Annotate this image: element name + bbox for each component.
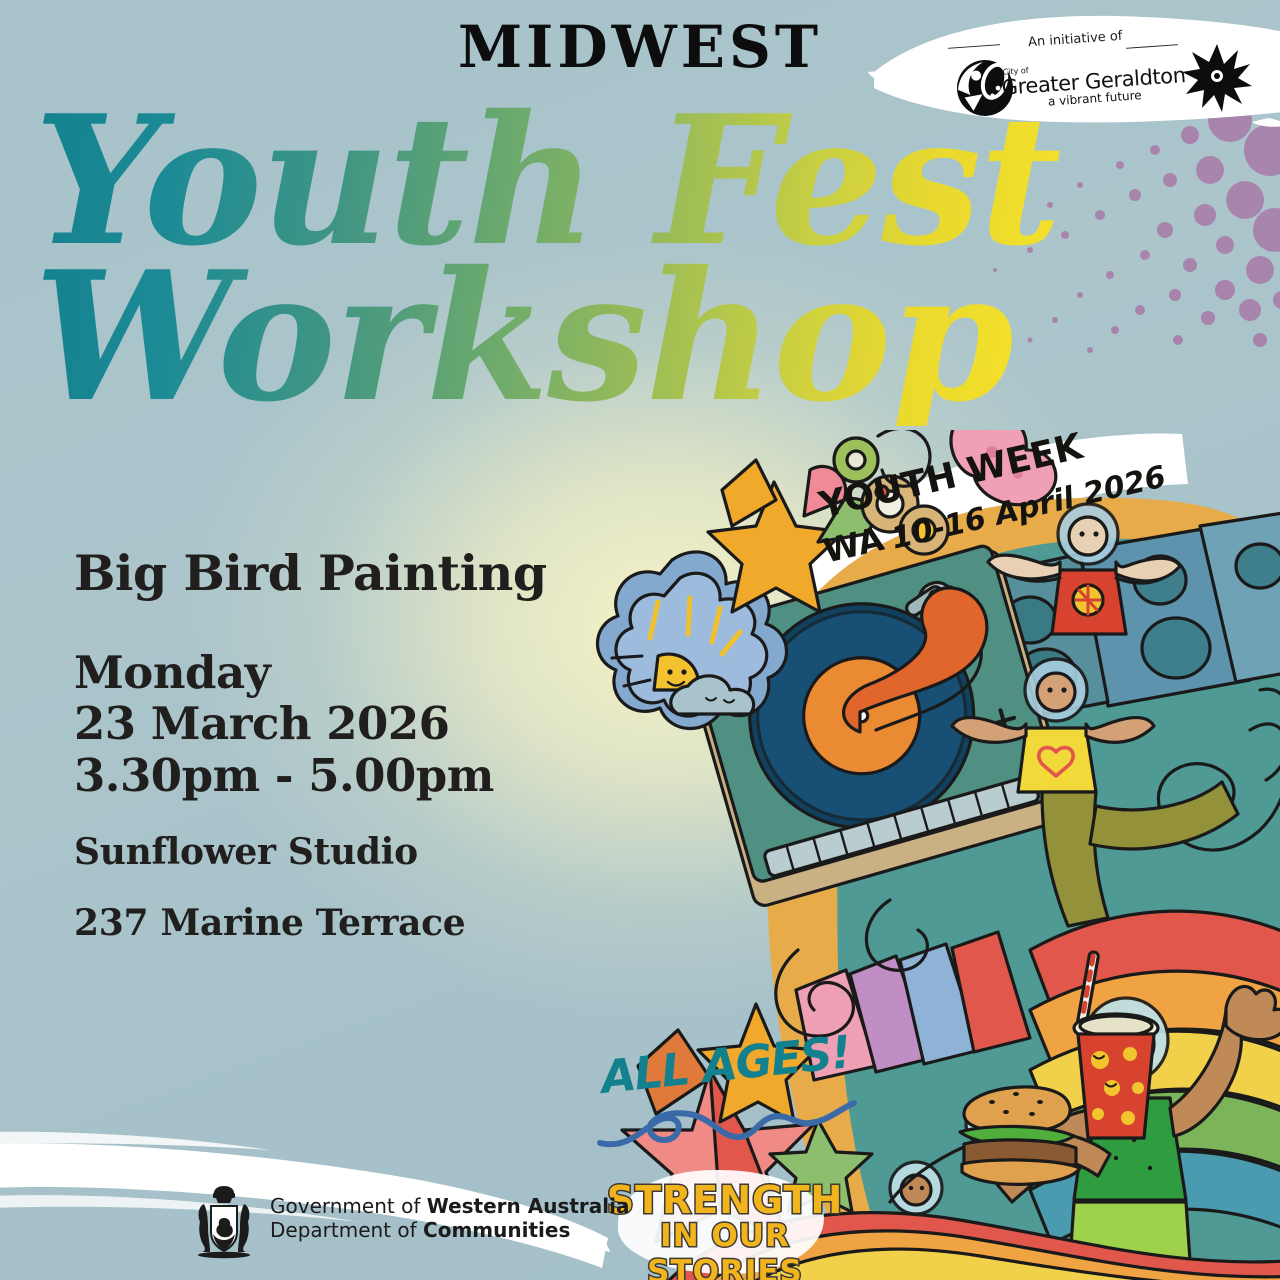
gov-line2-plain: Department of	[270, 1218, 423, 1242]
event-name: Big Bird Painting	[74, 548, 634, 599]
squiggle-underline-icon	[596, 1097, 896, 1155]
event-details: Big Bird Painting Monday 23 March 2026 3…	[74, 548, 634, 945]
wa-state-crest-icon	[186, 1182, 262, 1260]
youth-week-state: WA	[820, 519, 888, 571]
event-address: 237 Marine Terrace	[74, 902, 634, 945]
strength-in-our-stories-logo: STRENGTH IN OUR STORIES	[600, 1176, 850, 1268]
government-line-2: Department of Communities	[270, 1218, 629, 1242]
gov-line2-bold: Communities	[423, 1218, 570, 1242]
city-brand-text: City of Greater Geraldton a vibrant futu…	[1000, 56, 1187, 112]
initiative-logo-block: An initiative of City of Greater Geraldt…	[912, 18, 1272, 122]
government-text: Government of Western Australia Departme…	[270, 1194, 629, 1243]
event-day: Monday	[74, 647, 634, 698]
poster-canvas: MIDWEST Youth Fest Workshop Big Bird Pai…	[0, 0, 1280, 1280]
all-ages-badge: ALL AGES!	[596, 1045, 896, 1155]
strength-line-1: STRENGTH	[600, 1178, 850, 1222]
event-venue: Sunflower Studio	[74, 831, 634, 874]
gov-line1-bold: Western Australia	[427, 1194, 630, 1218]
strength-line-2: IN OUR STORIES	[600, 1218, 850, 1280]
event-date: 23 March 2026	[74, 698, 634, 749]
youth-week-badge: YOUTH WEEK WA 10-16 April 2026	[800, 452, 1130, 582]
event-time: 3.30pm - 5.00pm	[74, 750, 634, 801]
government-line-1: Government of Western Australia	[270, 1194, 629, 1218]
title-line-2: Workshop	[34, 248, 1012, 426]
rule-left	[948, 44, 1000, 49]
gov-line1-plain: Government of	[270, 1194, 427, 1218]
government-logo-block: Government of Western Australia Departme…	[186, 1186, 606, 1256]
starburst-icon	[1182, 42, 1252, 112]
rule-right	[1126, 44, 1178, 49]
initiative-label: An initiative of	[1027, 29, 1122, 51]
